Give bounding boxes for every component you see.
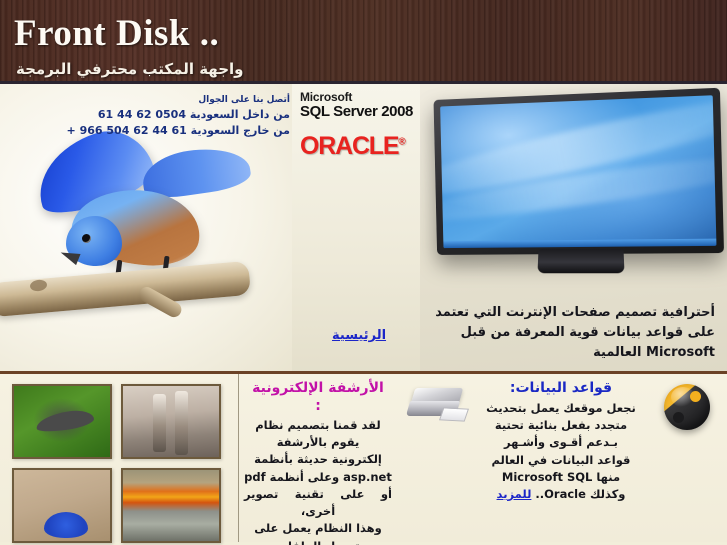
archive-column: الأرشفة الإلكترونية : لقد قمنا بتصميم نظ…: [238, 374, 398, 542]
sql-server-wordmark: SQL Server 2008: [300, 103, 413, 120]
archive-line-2: يقوم بالأرشفة: [244, 434, 392, 451]
database-column: قواعد البيانات: نجعل موقعك يعمل بتحديث م…: [476, 374, 646, 542]
database-line-6: وكذلك Oracle.. للمزيد: [480, 486, 642, 503]
oracle-wordmark: ORACLE: [300, 132, 398, 160]
bird-eye-shape: [82, 234, 91, 243]
printer-column: [398, 374, 476, 542]
database-line-1: نجعل موقعك يعمل بتحديث: [480, 400, 642, 417]
database-body: نجعل موقعك يعمل بتحديث متجدد بفعل بنائية…: [480, 400, 642, 504]
phone-inside-saudi: من داخل السعودية 0504 62 44 61: [67, 107, 290, 123]
thumb-blue-butterfly[interactable]: [12, 468, 112, 543]
database-line-3: بـدعم أقـوى وأشـهر: [480, 434, 642, 451]
database-line-6-text: وكذلك Oracle..: [535, 487, 625, 501]
desktop-taskbar: [443, 239, 716, 248]
monitor-screen: [440, 95, 716, 248]
home-link[interactable]: الرئيسية: [332, 328, 386, 343]
page-root: Front Disk .. واجهة المكتب محترفي البرمج…: [0, 0, 727, 545]
printer-paper-shape: [439, 407, 469, 421]
monitor-stand: [537, 249, 624, 273]
contact-phone-block: أتصل بنا على الجوال من داخل السعودية 050…: [67, 94, 290, 139]
sphere-dot-light: [690, 391, 701, 402]
content-columns: الأرشفة الإلكترونية : لقد قمنا بتصميم نظ…: [0, 374, 727, 542]
archive-heading-colon: :: [244, 399, 392, 414]
archive-line-1: لقد قمنا بتصميم نظام: [244, 417, 392, 434]
printer-scanner-icon: [408, 388, 466, 422]
thumb-bird-flight[interactable]: [12, 384, 112, 459]
more-link[interactable]: للمزيد: [497, 487, 532, 501]
image-gallery: [0, 374, 238, 542]
intro-line-2: على قواعد بيانات قوية المعرفة من قبل: [435, 323, 715, 343]
intro-line-3: Microsoft العالمية: [435, 343, 715, 363]
archive-line-6: وهذا النظام يعمل على: [244, 520, 392, 537]
monitor-bezel: [434, 88, 725, 255]
yin-yang-sphere-icon: [664, 384, 710, 430]
logo-column: [646, 374, 727, 542]
archive-line-3: إلكترونية حديثة بأنظمة: [244, 451, 392, 468]
oracle-logo: ORACLE®: [300, 132, 405, 161]
archive-heading: الأرشفة الإلكترونية: [244, 380, 392, 398]
thumb-fence-posts[interactable]: [121, 384, 221, 459]
site-header: Front Disk .. واجهة المكتب محترفي البرمج…: [0, 0, 727, 84]
intro-paragraph: أحترافية تصميم صفحات الإنترنت التي تعتمد…: [435, 303, 715, 363]
phone-outside-saudi: من خارج السعودية 61 44 62 504 966 +: [67, 123, 290, 139]
sphere-dot-dark: [673, 412, 684, 423]
microsoft-wordmark: Microsoft: [300, 90, 413, 104]
intro-line-1: أحترافية تصميم صفحات الإنترنت التي تعتمد: [435, 303, 715, 323]
archive-line-7: تحويل الملفات: [244, 538, 392, 545]
contact-title: أتصل بنا على الجوال: [67, 94, 290, 107]
archive-body: لقد قمنا بتصميم نظام يقوم بالأرشفة إلكتر…: [244, 417, 392, 545]
archive-line-5: أو على تقنية تصوير أخرى،: [244, 486, 392, 521]
microsoft-sql-logo: Microsoft SQL Server 2008: [300, 90, 413, 120]
thumb-sunset-beach[interactable]: [121, 468, 221, 543]
site-tagline: واجهة المكتب محترفي البرمجة: [16, 60, 243, 78]
page-title: Front Disk ..: [14, 12, 219, 55]
hero-banner: أتصل بنا على الجوال من داخل السعودية 050…: [0, 84, 727, 374]
archive-line-4: asp.net وعلى أنظمة pdf: [244, 469, 392, 486]
oracle-registered-mark: ®: [398, 137, 404, 148]
database-line-5: منها Microsoft SQL: [480, 469, 642, 486]
database-line-4: قواعد البيانات في العالم: [480, 452, 642, 469]
database-heading: قواعد البيانات:: [480, 380, 642, 397]
database-line-2: متجدد بفعل بنائية تحتية: [480, 417, 642, 434]
